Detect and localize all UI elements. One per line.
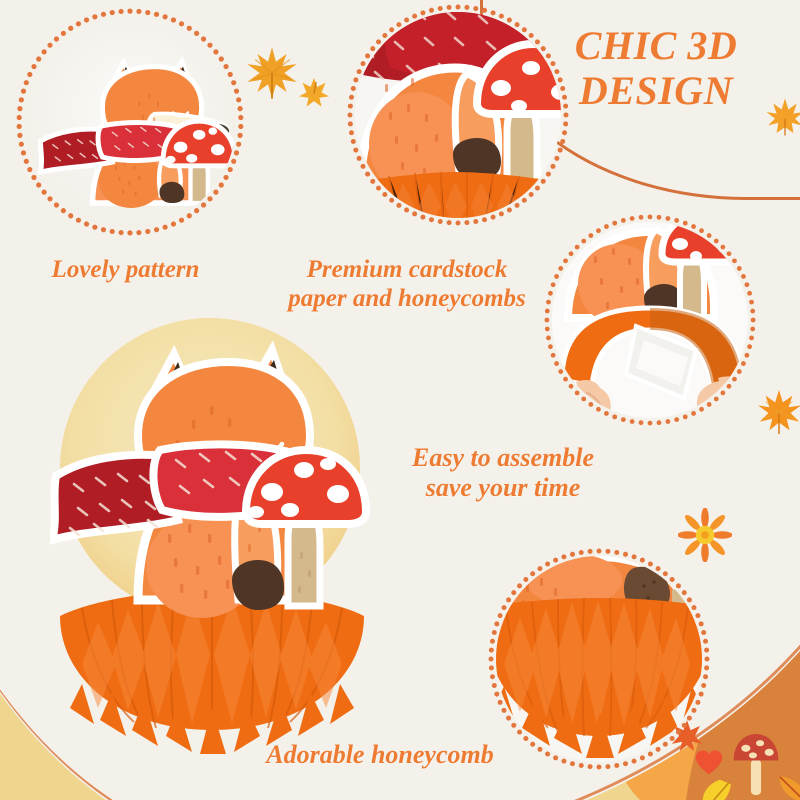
feature-circle-adorable-honeycomb[interactable] <box>496 556 702 762</box>
caption-text-line-1: Easy to assemble <box>412 443 594 472</box>
caption-text-line-2: save your time <box>426 473 581 502</box>
leaf-orange-icon <box>776 772 800 800</box>
caption-text-line-1: Premium cardstock <box>307 256 508 283</box>
feature-circle-lovely-pattern[interactable] <box>24 16 236 228</box>
feature-image-honeycomb-base-closeup <box>496 556 702 762</box>
caption-text: Lovely pattern <box>52 256 200 283</box>
feature-image-hands-opening-honeycomb <box>552 222 748 418</box>
maple-leaf-icon <box>243 45 301 101</box>
caption-lovely-pattern: Lovely pattern <box>18 255 233 284</box>
product-feature-graphic: CHIC 3D DESIGN Lovely pattern Premium ca… <box>0 0 800 800</box>
caption-premium-cardstock: Premium cardstock paper and honeycombs <box>252 255 562 313</box>
main-product-fox-figure <box>50 328 370 628</box>
maple-leaf-icon <box>755 388 800 436</box>
caption-text: Adorable honeycomb <box>266 740 494 769</box>
flower-icon <box>678 508 732 562</box>
page-title: CHIC 3D DESIGN <box>526 24 786 114</box>
caption-text-line-2: paper and honeycombs <box>288 285 526 312</box>
caption-adorable-honeycomb: Adorable honeycomb <box>215 740 545 770</box>
leaf-yellow-icon <box>697 778 741 800</box>
feature-circle-easy-to-assemble[interactable] <box>552 222 748 418</box>
feature-image-fox-full-figure <box>24 16 236 228</box>
caption-easy-to-assemble: Easy to assemble save your time <box>378 443 628 503</box>
maple-leaf-small-icon <box>297 76 331 110</box>
title-line-2: DESIGN <box>526 69 786 114</box>
title-line-1: CHIC 3D <box>575 23 737 68</box>
